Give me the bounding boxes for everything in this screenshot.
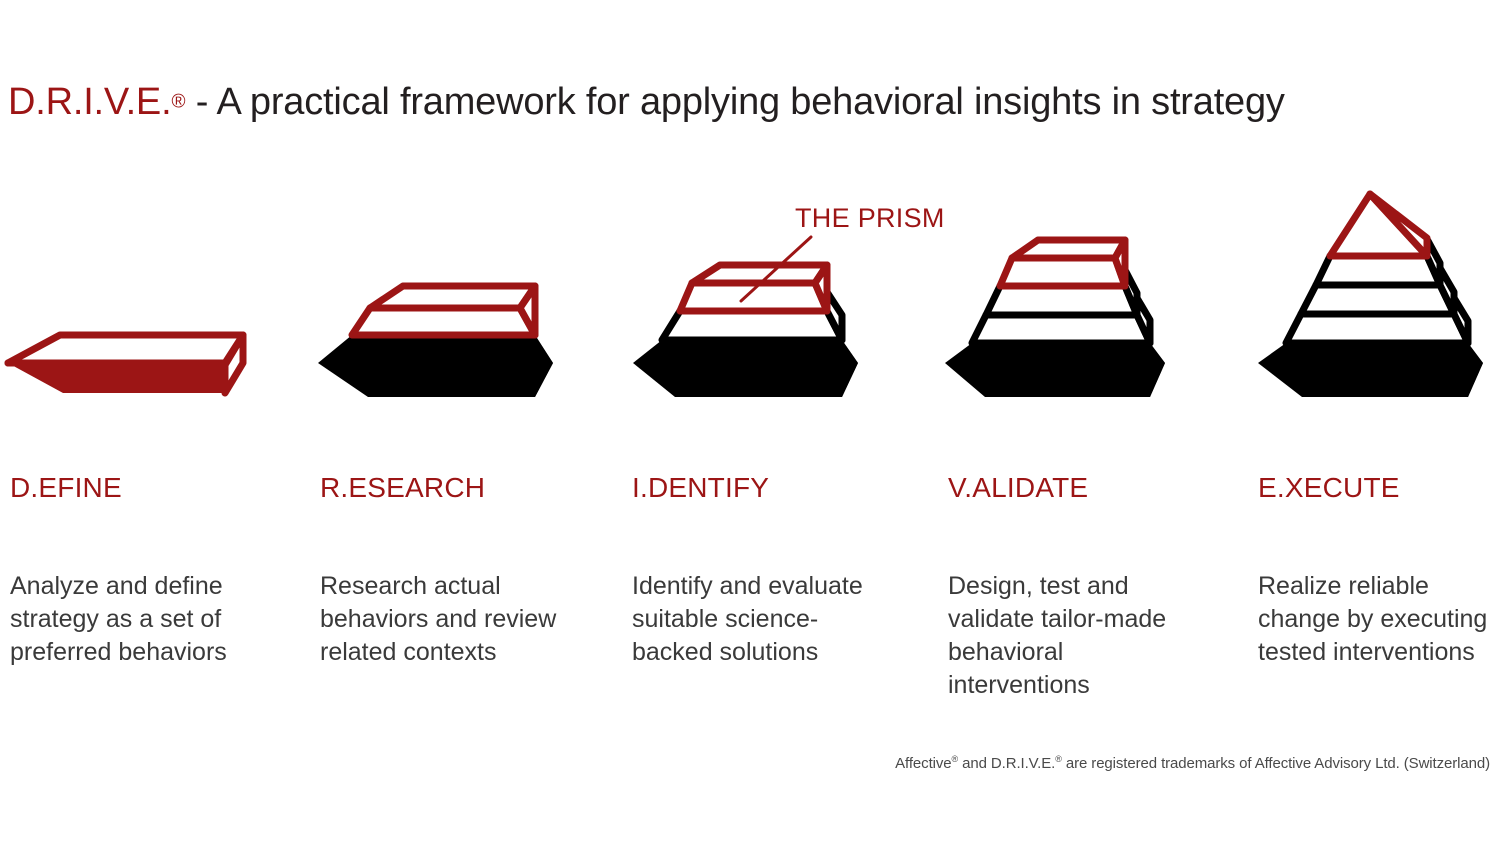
stage-body-execute: Realize reliable change by executing tes…: [1258, 570, 1498, 669]
stage-body-identify: Identify and evaluate suitable science-b…: [632, 570, 872, 669]
stage-label-validate[interactable]: V.ALIDATE: [948, 472, 1088, 504]
slide-canvas: D.R.I.V.E.® - A practical framework for …: [0, 0, 1500, 843]
stage-label-define[interactable]: D.EFINE: [10, 472, 122, 504]
stage-body-define: Analyze and define strategy as a set of …: [10, 570, 250, 669]
trademark-footnote: Affective® and D.R.I.V.E.® are registere…: [895, 755, 1490, 772]
footnote-part2: and D.R.I.V.E.: [958, 755, 1055, 772]
stage-list: D.EFINE Analyze and define strategy as a…: [0, 0, 1500, 843]
stage-body-research: Research actual behaviors and review rel…: [320, 570, 560, 669]
stage-label-identify[interactable]: I.DENTIFY: [632, 472, 769, 504]
stage-body-validate: Design, test and validate tailor-made be…: [948, 570, 1188, 702]
footnote-part1: Affective: [895, 755, 951, 772]
footnote-part3: are registered trademarks of Affective A…: [1062, 755, 1490, 772]
stage-label-research[interactable]: R.ESEARCH: [320, 472, 485, 504]
stage-label-execute[interactable]: E.XECUTE: [1258, 472, 1400, 504]
